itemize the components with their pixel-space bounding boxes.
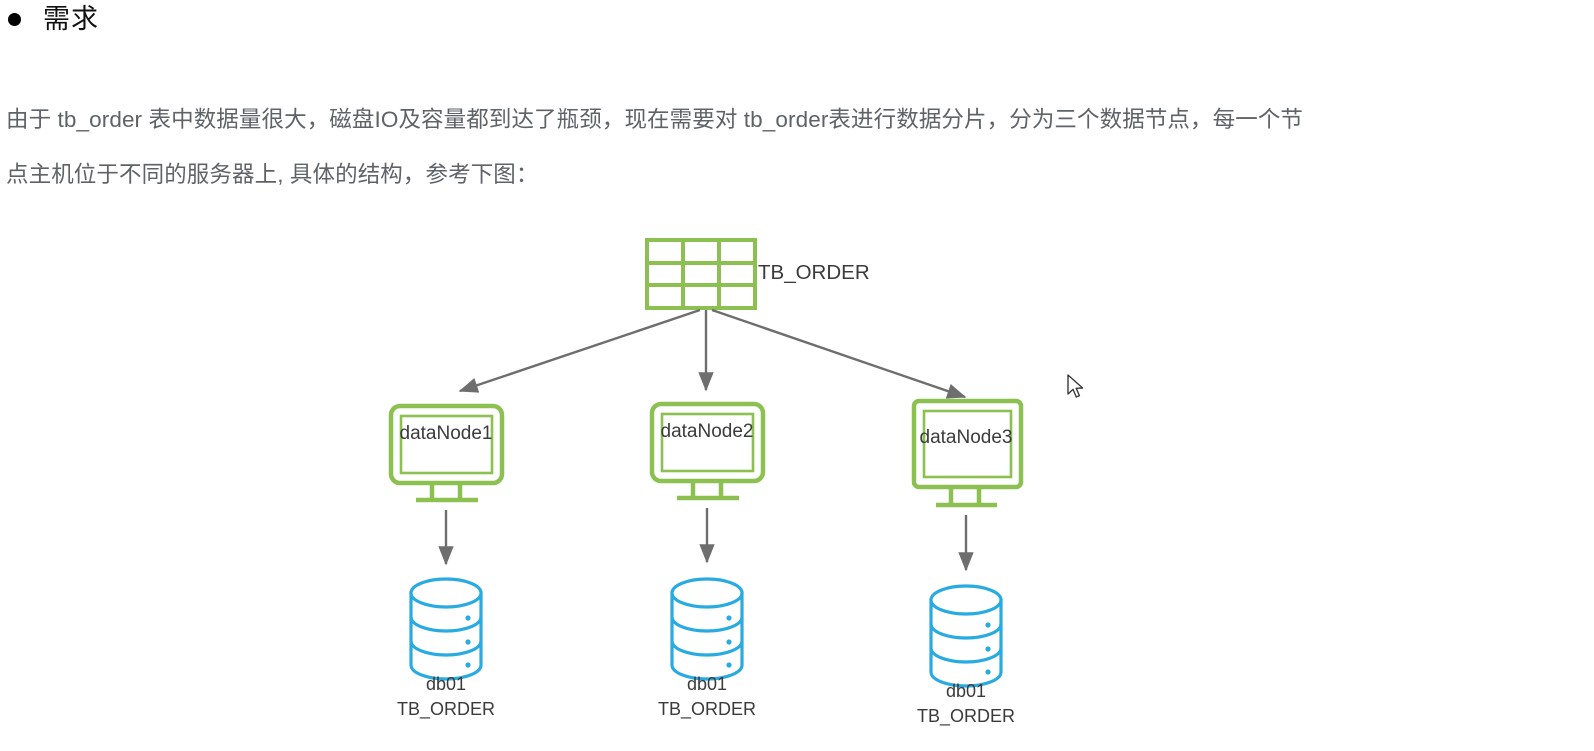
- paragraph-line-1: 由于 tb_order 表中数据量很大，磁盘IO及容量都到达了瓶颈，现在需要对 …: [6, 92, 1590, 147]
- monitor-icon: [391, 406, 502, 500]
- node-1-label: dataNode1: [400, 423, 493, 444]
- db-1-table: TB_ORDER: [397, 699, 495, 720]
- paragraph-line-2: 点主机位于不同的服务器上, 具体的结构，参考下图：: [6, 147, 1590, 202]
- bullet-dot-icon: [8, 13, 21, 26]
- database-cylinder-icon: [931, 586, 1001, 686]
- db-2-name: db01: [687, 674, 727, 694]
- arrow-root-to-node1: [460, 310, 700, 391]
- db-1-name: db01: [426, 674, 466, 694]
- monitor-icon: [652, 404, 763, 498]
- table-grid-icon: [647, 240, 755, 308]
- database-cylinder-icon: [411, 579, 481, 679]
- section-heading: 需求: [8, 6, 99, 33]
- architecture-diagram: TB_ORDER dataNode1 db01 TB_ORDER: [0, 215, 1594, 751]
- node-3-label: dataNode3: [920, 427, 1013, 448]
- root-node-label: TB_ORDER: [758, 261, 870, 284]
- db-3-table: TB_ORDER: [917, 706, 1015, 727]
- database-cylinder-icon: [672, 579, 742, 679]
- arrow-root-to-node3: [712, 310, 965, 397]
- body-paragraph: 由于 tb_order 表中数据量很大，磁盘IO及容量都到达了瓶颈，现在需要对 …: [6, 92, 1590, 202]
- heading-text: 需求: [43, 6, 99, 33]
- monitor-icon: [914, 401, 1021, 505]
- db-2-table: TB_ORDER: [658, 699, 756, 720]
- node-group-3: dataNode3 db01 TB_ORDER: [914, 401, 1021, 727]
- node-group-1: dataNode1 db01 TB_ORDER: [391, 406, 502, 720]
- node-group-2: dataNode2 db01 TB_ORDER: [652, 404, 763, 720]
- node-2-label: dataNode2: [661, 421, 754, 442]
- db-3-name: db01: [946, 681, 986, 701]
